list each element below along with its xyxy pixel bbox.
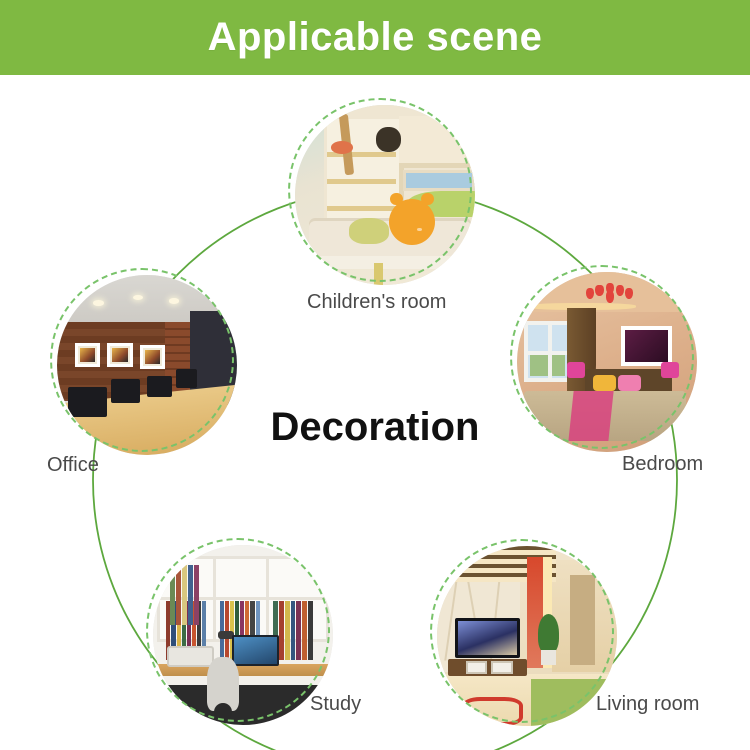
scene-diagram: Children's room [0, 75, 750, 750]
childrens-room-photo [295, 105, 475, 285]
node-label-bedroom: Bedroom [622, 453, 703, 476]
node-label-study: Study [310, 693, 361, 716]
node-label-living-room: Living room [596, 693, 699, 716]
header-banner: Applicable scene [0, 0, 750, 75]
node-living-room[interactable] [437, 546, 617, 726]
node-label-office: Office [47, 454, 99, 477]
node-childrens-room[interactable] [295, 105, 475, 285]
node-study[interactable] [153, 545, 333, 725]
study-photo [153, 545, 333, 725]
applicable-scene-infographic: Applicable scene [0, 0, 750, 750]
living-room-photo [437, 546, 617, 726]
page-title: Applicable scene [0, 0, 750, 75]
center-label: Decoration [0, 405, 750, 450]
node-label-childrens-room: Children's room [307, 291, 446, 314]
